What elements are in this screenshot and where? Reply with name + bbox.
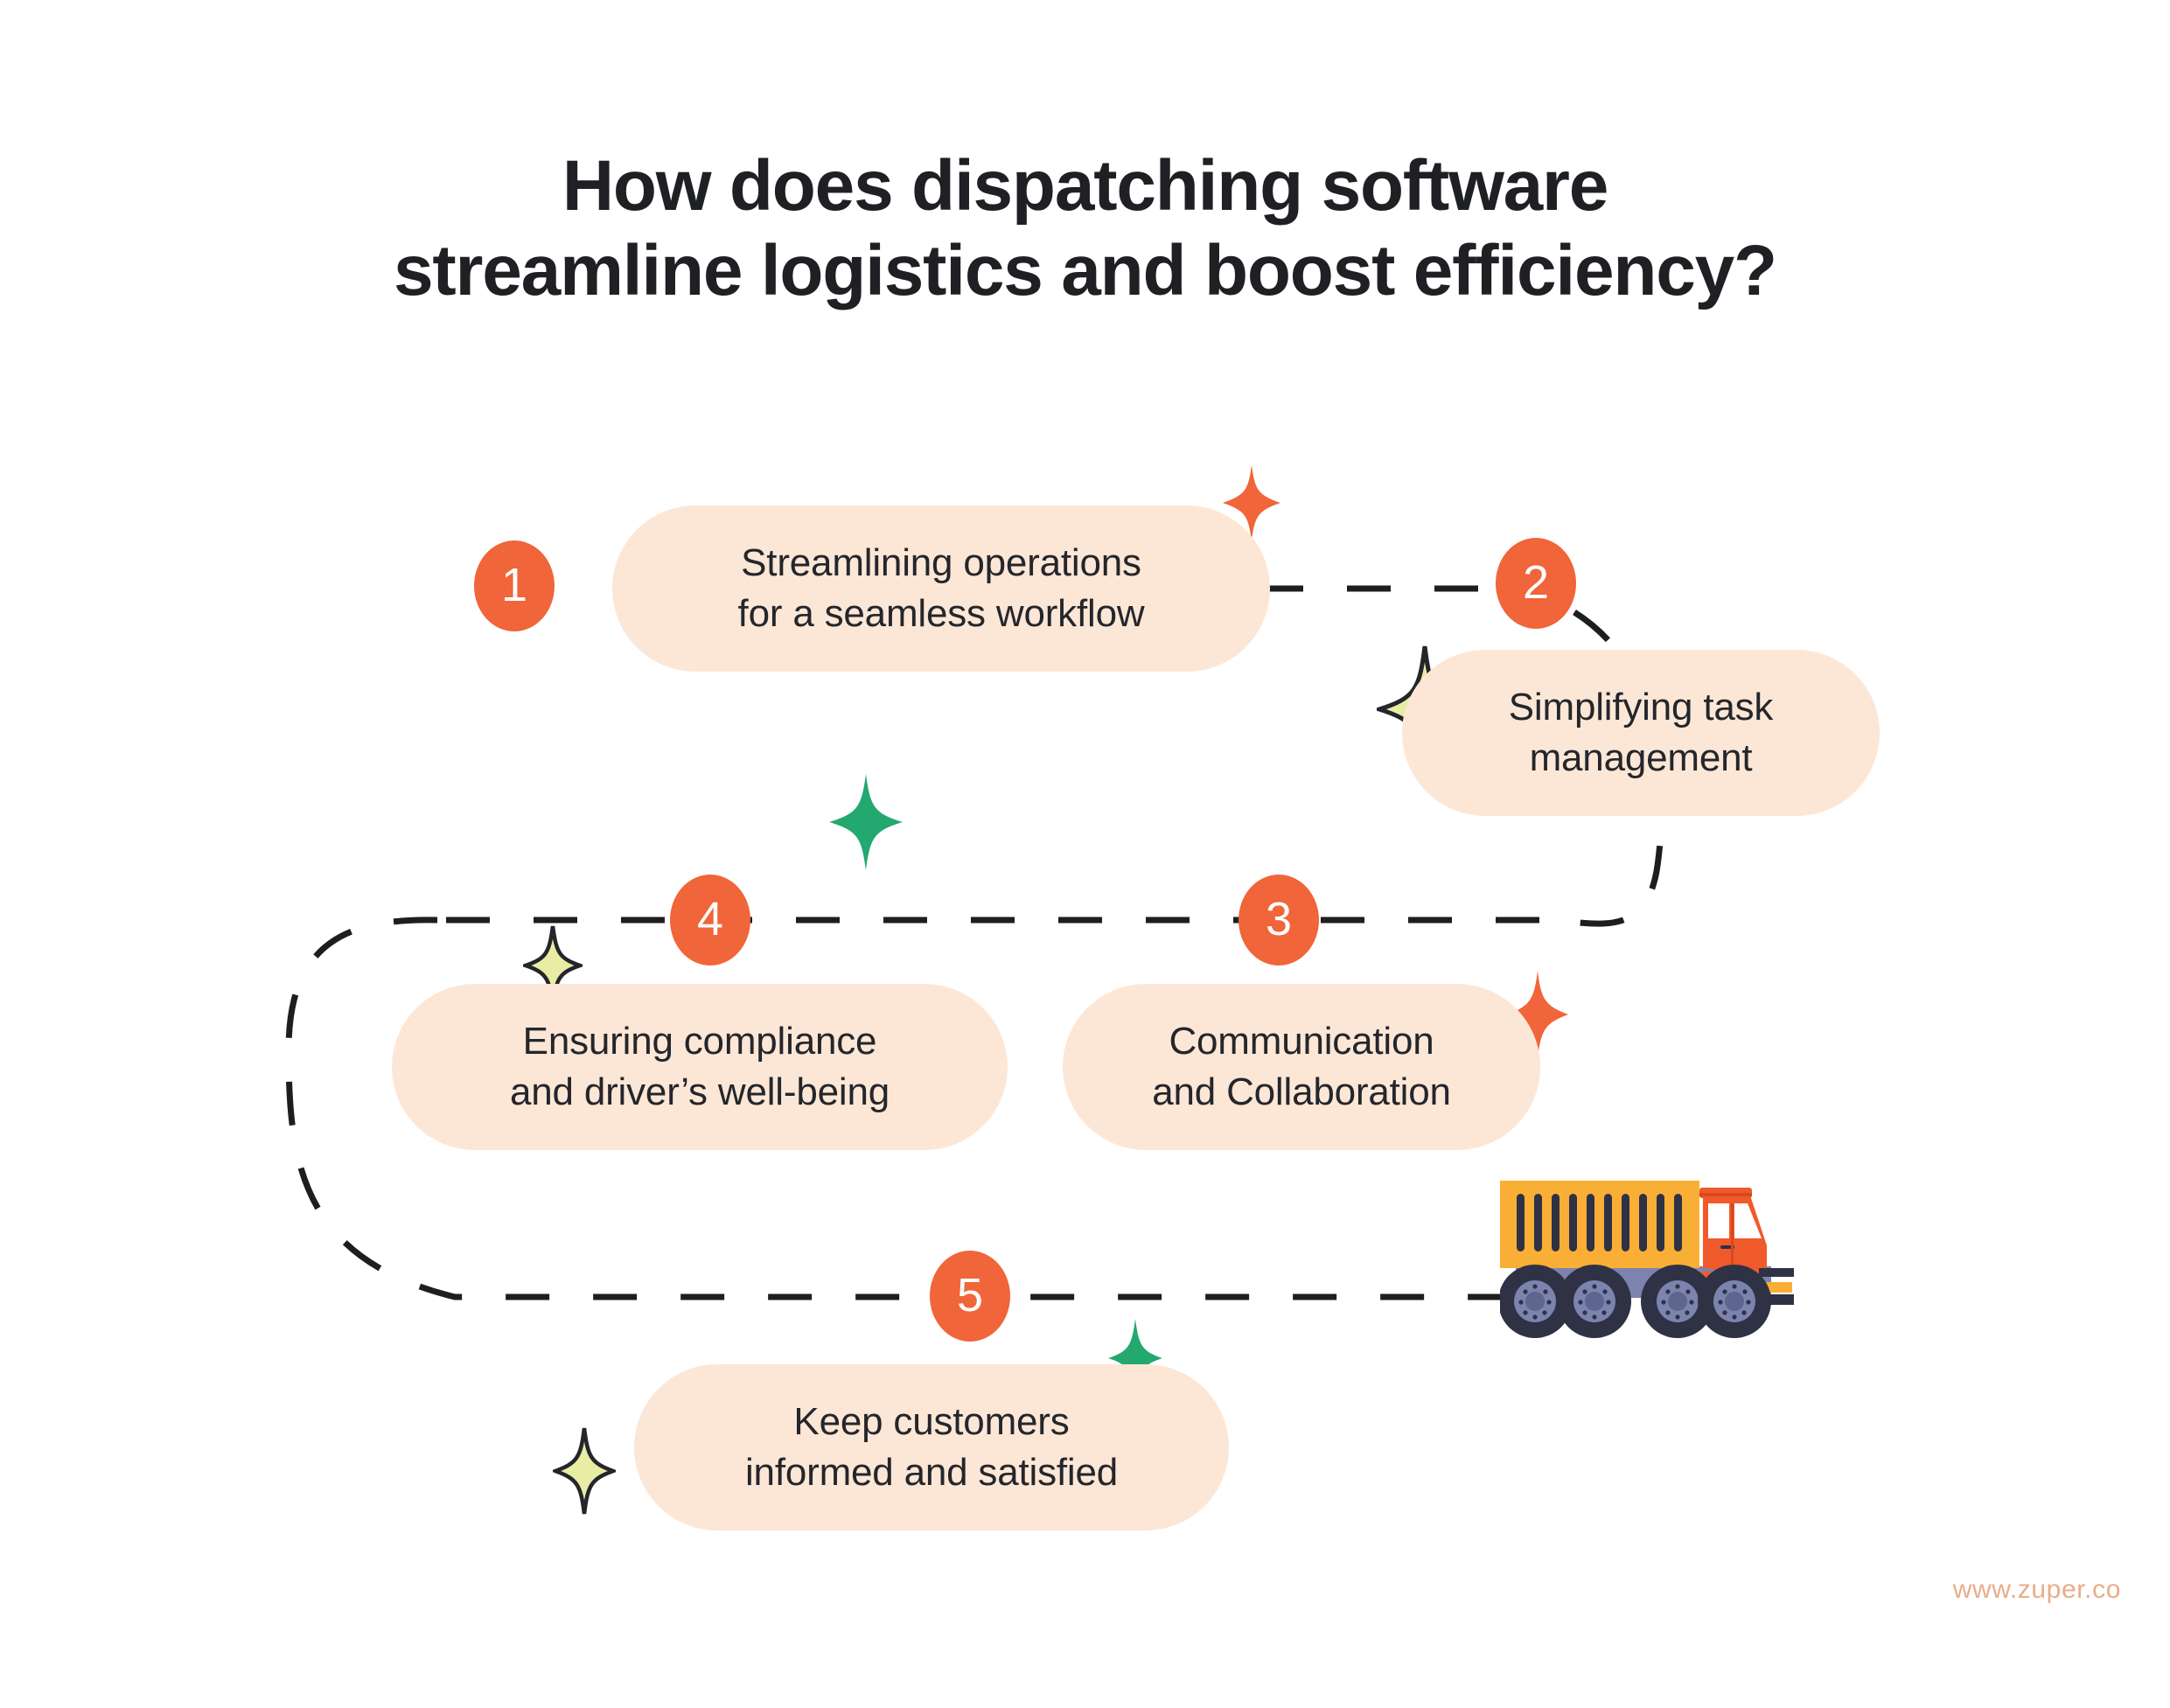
- infographic-canvas: How does dispatching software streamline…: [0, 0, 2170, 1708]
- step-badge-4[interactable]: 4: [670, 875, 750, 966]
- truck-wheel: [1698, 1265, 1771, 1338]
- step-pill-5[interactable]: Keep customers informed and satisfied: [634, 1364, 1229, 1530]
- truck-cargo-bed: [1500, 1181, 1699, 1268]
- site-url[interactable]: www.zuper.co: [1953, 1575, 2121, 1605]
- sparkle-yellow-bottom-icon: [553, 1426, 616, 1516]
- step-pill-3[interactable]: Communication and Collaboration: [1063, 984, 1540, 1150]
- sparkle-green-middle-icon: [829, 774, 903, 870]
- step-pill-4[interactable]: Ensuring compliance and driver’s well-be…: [392, 984, 1008, 1150]
- step-badge-5[interactable]: 5: [930, 1251, 1010, 1342]
- step-badge-2[interactable]: 2: [1496, 538, 1576, 629]
- step-badge-3[interactable]: 3: [1239, 875, 1319, 966]
- step-pill-1[interactable]: Streamlining operations for a seamless w…: [612, 505, 1270, 672]
- delivery-truck-icon: [1500, 1181, 1824, 1399]
- truck-wheel: [1558, 1265, 1631, 1338]
- step-pill-2[interactable]: Simplifying task management: [1402, 650, 1880, 816]
- step-badge-1[interactable]: 1: [474, 540, 555, 631]
